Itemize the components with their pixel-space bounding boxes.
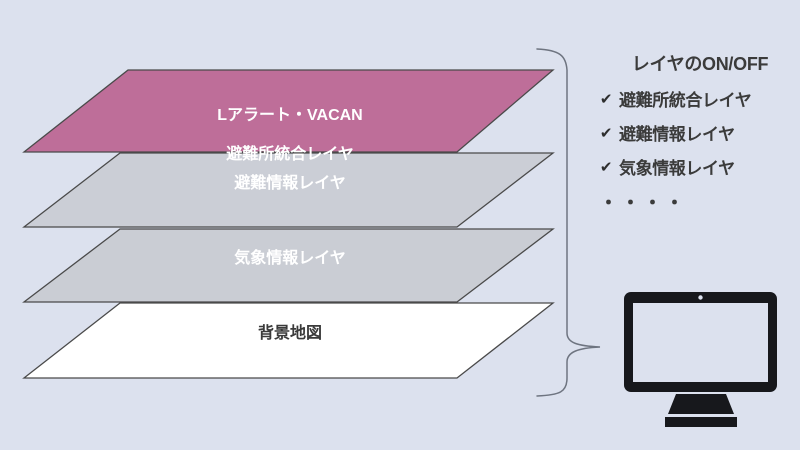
monitor-stand-neck: [668, 394, 734, 414]
monitor-stand-base: [665, 417, 737, 427]
monitor-screen: [633, 303, 768, 382]
desktop-monitor-icon: [0, 0, 800, 450]
diagram-canvas: Lアラート・VACAN 避難所統合レイヤ 避難情報レイヤ 気象情報レイヤ 背景地…: [0, 0, 800, 450]
monitor-webcam-dot: [698, 295, 702, 299]
